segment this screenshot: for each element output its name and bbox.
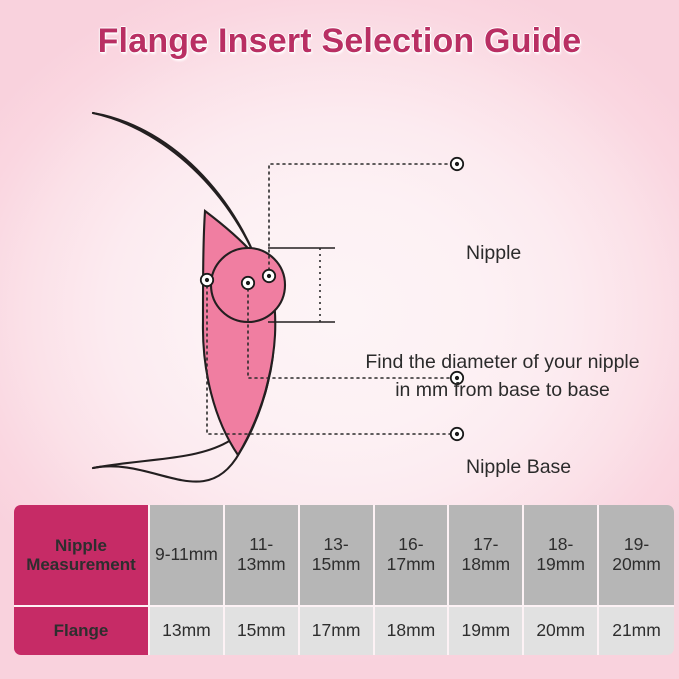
row-header-line-2: Measurement	[26, 555, 136, 574]
flange-cell-7: 21mm	[599, 607, 674, 655]
flange-cell-3: 17mm	[300, 607, 375, 655]
measurement-cell-6: 18-19mm	[524, 505, 599, 607]
anatomy-svg	[0, 90, 679, 490]
flange-cell-5: 19mm	[449, 607, 524, 655]
measurement-cell-1: 9-11mm	[150, 505, 225, 607]
flange-cell-1: 13mm	[150, 607, 225, 655]
anatomy-diagram: Nipple Nipple Base Areola Find the diame…	[0, 90, 679, 490]
measurement-cell-4: 16-17mm	[375, 505, 450, 607]
diagram-label-nipple-base: Nipple Base	[466, 456, 571, 479]
instruction-text: Find the diameter of your nipple in mm f…	[340, 348, 665, 405]
measurement-cell-7: 19-20mm	[599, 505, 674, 607]
label-marker-nipple-icon	[451, 158, 463, 170]
page-title: Flange Insert Selection Guide	[0, 22, 679, 61]
diagram-label-nipple: Nipple	[466, 242, 521, 265]
measurement-cell-5: 17-18mm	[449, 505, 524, 607]
instruction-line-1: Find the diameter of your nipple	[340, 348, 665, 376]
flange-cell-4: 18mm	[375, 607, 450, 655]
table-row-flange: Flange 13mm 15mm 17mm 18mm 19mm 20mm 21m…	[14, 607, 674, 655]
sizing-table-container: Nipple Measurement 9-11mm 11-13mm 13-15m…	[14, 505, 674, 655]
marker-areola-edge	[201, 274, 213, 286]
areola-region	[203, 211, 275, 455]
measurement-cell-3: 13-15mm	[300, 505, 375, 607]
row-header-nipple-measurement: Nipple Measurement	[14, 505, 150, 607]
row-header-line-1: Nipple	[55, 536, 107, 555]
label-marker-areola-icon	[451, 428, 463, 440]
guide-page: Flange Insert Selection Guide	[0, 0, 679, 679]
marker-nipple-base	[242, 277, 254, 289]
flange-cell-6: 20mm	[524, 607, 599, 655]
marker-nipple-center	[263, 270, 275, 282]
table-row-nipple-measurement: Nipple Measurement 9-11mm 11-13mm 13-15m…	[14, 505, 674, 607]
flange-sizing-table: Nipple Measurement 9-11mm 11-13mm 13-15m…	[14, 505, 674, 655]
nipple-leader-line	[269, 164, 452, 276]
instruction-line-2: in mm from base to base	[340, 376, 665, 404]
row-header-flange: Flange	[14, 607, 150, 655]
flange-cell-2: 15mm	[225, 607, 300, 655]
measurement-cell-2: 11-13mm	[225, 505, 300, 607]
